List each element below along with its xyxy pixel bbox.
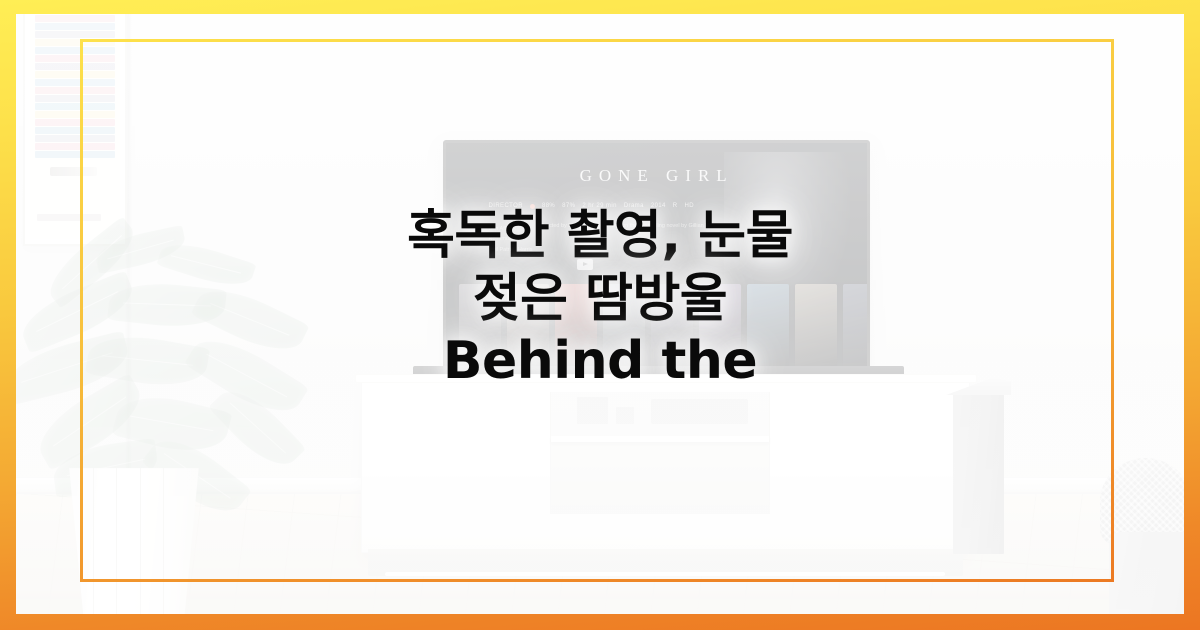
art-stripe <box>35 15 115 22</box>
tv-metadata-row: DIRECTOR 88% 87% 2 hr 29 min Drama 2014 … <box>489 203 694 209</box>
knit-ottoman <box>1091 458 1184 614</box>
thumbnail-canvas: GONE GIRL DIRECTOR 88% 87% 2 hr 29 min D… <box>0 0 1200 630</box>
potted-plant <box>16 230 355 614</box>
tv-cast-name: Rosamund Pike <box>489 234 533 244</box>
art-stripe <box>35 79 115 86</box>
art-mat <box>30 15 120 239</box>
tv-genre: Drama <box>624 203 644 209</box>
tv-console <box>361 377 970 553</box>
tomato-icon <box>530 204 535 209</box>
art-stripe <box>35 135 115 142</box>
tv-poster-rail[interactable] <box>459 284 867 367</box>
tv-cast-name: Ben Affleck <box>489 224 533 234</box>
art-signature <box>50 167 97 176</box>
art-stripe <box>35 119 115 126</box>
background-photo: GONE GIRL DIRECTOR 88% 87% 2 hr 29 min D… <box>16 14 1184 614</box>
art-stripe <box>35 47 115 54</box>
tower-speaker <box>953 392 1004 554</box>
plant-pot <box>60 468 207 614</box>
art-stripe <box>35 143 115 150</box>
tv-cast-name: Neil Patrick Harris <box>489 245 533 255</box>
tv-poster-thumbnail[interactable] <box>699 284 741 367</box>
tv-runtime: 2 hr 29 min <box>582 203 616 209</box>
tv-poster-thumbnail[interactable] <box>555 284 597 367</box>
art-stripe <box>35 23 115 30</box>
tv-audience-score: 87% <box>562 203 575 209</box>
living-room-scene: GONE GIRL DIRECTOR 88% 87% 2 hr 29 min D… <box>16 14 1184 614</box>
art-stripe <box>35 55 115 62</box>
tv-year: 2014 <box>651 203 666 209</box>
framed-wall-art <box>23 14 127 246</box>
tv-poster-thumbnail[interactable] <box>459 284 501 367</box>
console-top-surface <box>355 374 977 383</box>
tv-poster-thumbnail[interactable] <box>507 284 549 367</box>
art-stripe <box>35 95 115 102</box>
art-stripe <box>35 111 115 118</box>
console-niche <box>550 392 771 514</box>
art-stripe <box>35 31 115 38</box>
art-caption <box>37 214 100 221</box>
tv-rating: R <box>673 203 678 209</box>
ottoman-base <box>1109 532 1184 614</box>
art-stripe <box>35 87 115 94</box>
art-stripe <box>35 71 115 78</box>
tv-poster-thumbnail[interactable] <box>747 284 789 367</box>
niche-shelf <box>551 436 770 442</box>
tv-screen: GONE GIRL DIRECTOR 88% 87% 2 hr 29 min D… <box>446 143 866 374</box>
console-lip <box>385 572 945 576</box>
tv-poster-thumbnail[interactable] <box>843 284 867 367</box>
tv-poster-thumbnail[interactable] <box>795 284 837 367</box>
tv-description: Directed by David Fincher. Based on the … <box>539 222 749 231</box>
tv-quality-badge: HD <box>685 203 694 209</box>
tv-director-label: DIRECTOR <box>489 203 523 209</box>
art-stripe <box>35 151 115 158</box>
console-plinth <box>368 549 963 577</box>
art-stripe-group <box>35 15 115 158</box>
tv-poster-thumbnail[interactable] <box>651 284 693 367</box>
tv-cast-list: Ben AffleckRosamund PikeNeil Patrick Har… <box>489 224 533 255</box>
tv-tomato-score: 88% <box>542 203 555 209</box>
play-icon[interactable] <box>577 259 593 270</box>
tv-poster-thumbnail[interactable] <box>603 284 645 367</box>
art-stripe <box>35 103 115 110</box>
art-stripe <box>35 127 115 134</box>
television: GONE GIRL DIRECTOR 88% 87% 2 hr 29 min D… <box>443 140 869 377</box>
art-stripe <box>35 63 115 70</box>
art-stripe <box>35 39 115 46</box>
tv-movie-title: GONE GIRL <box>446 166 866 186</box>
